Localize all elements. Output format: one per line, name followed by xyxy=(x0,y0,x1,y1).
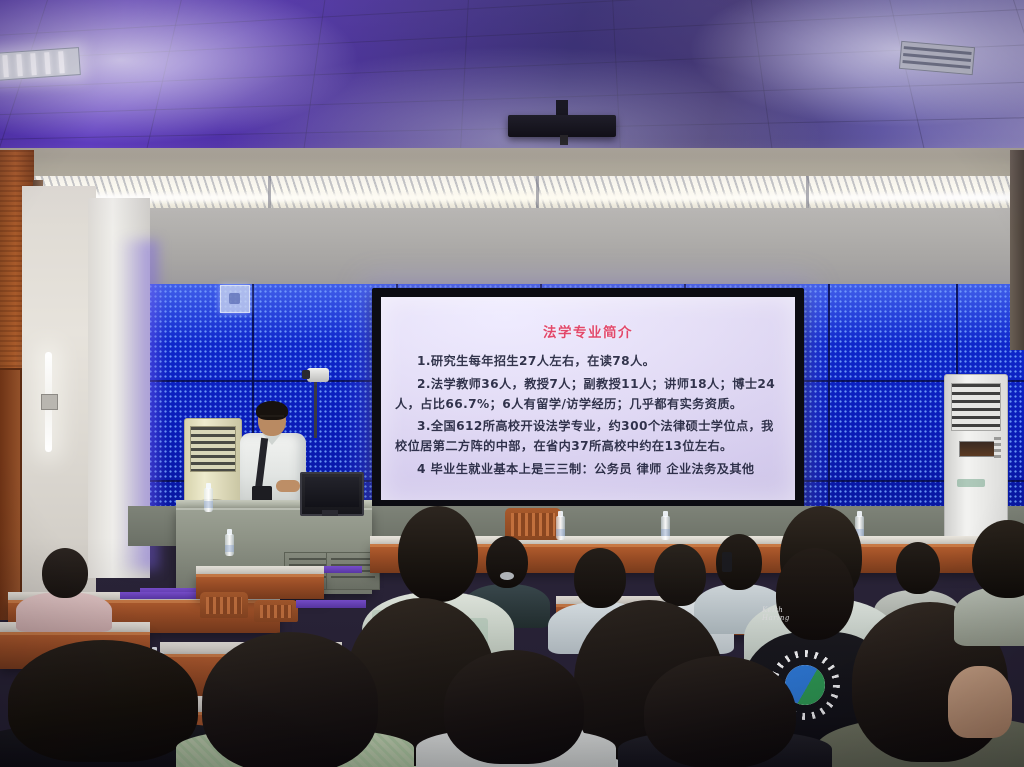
hand xyxy=(948,666,1012,738)
slide-line-1: 1.研究生每年招生27人左右，在读78人。 xyxy=(395,352,781,372)
chair-slats xyxy=(511,513,555,536)
wall-placard xyxy=(220,285,250,313)
slide-body: 1.研究生每年招生27人左右，在读78人。 2.法学教师36人，教授7人；副教授… xyxy=(395,352,781,483)
water-bottle xyxy=(661,516,670,540)
water-bottle xyxy=(204,488,213,512)
hair-clip xyxy=(722,552,732,572)
sconce-mount xyxy=(41,394,58,410)
slide-line-2: 2.法学教师36人，教授7人；副教授11人；讲师18人；博士24人，占比66.7… xyxy=(395,375,781,415)
ceiling-projector xyxy=(508,115,616,137)
audience-member xyxy=(430,684,598,767)
tshirt-signature: Keith Haring xyxy=(762,606,808,622)
monitor-stand xyxy=(322,510,338,516)
water-bottle xyxy=(556,516,565,540)
wall-camera-icon xyxy=(307,368,329,382)
wood-wall-panel-lower xyxy=(0,368,22,620)
right-wall-strip xyxy=(1010,150,1024,350)
doorway-recess xyxy=(22,186,96,606)
projection-screen: 法学专业简介 1.研究生每年招生27人左右，在读78人。 2.法学教师36人，教… xyxy=(372,288,804,510)
chair xyxy=(200,592,248,618)
chair-slats xyxy=(260,605,292,618)
audience-member xyxy=(20,548,106,628)
ac-buttons xyxy=(994,437,1001,459)
audience-member xyxy=(632,700,812,767)
chair-slats xyxy=(206,597,242,614)
audience-member xyxy=(192,672,392,767)
air-conditioner-right xyxy=(944,374,1008,542)
ac-louvers-icon xyxy=(951,383,1001,431)
slide-line-3: 3.全国612所高校开设法学专业，约300个法律硕士学位点，我校位居第二方阵的中… xyxy=(395,417,781,457)
camera-pole xyxy=(314,382,317,438)
slide-line-4: 4 毕业生就业基本上是三三制：公务员 律师 企业法务及其他 xyxy=(395,460,781,480)
audience-member xyxy=(960,520,1024,640)
light-highlight xyxy=(0,193,1024,202)
slide-surface: 法学专业简介 1.研究生每年招生27人左右，在读78人。 2.法学教师36人，教… xyxy=(381,297,795,500)
presenter-arm xyxy=(276,480,300,492)
cove-light-band xyxy=(0,176,1024,210)
lecture-hall-scene: 法学专业简介 1.研究生每年招生27人左右，在读78人。 2.法学教师36人，教… xyxy=(0,0,1024,767)
presenter-shirt xyxy=(240,433,306,509)
glasses-icon xyxy=(260,415,284,422)
water-bottle xyxy=(225,534,234,556)
slide-title: 法学专业简介 xyxy=(395,321,781,341)
hair-tie xyxy=(500,572,514,580)
projector-lens xyxy=(560,135,568,145)
chair xyxy=(254,600,298,622)
ceiling-soffit xyxy=(0,148,1024,178)
ac-brand-mark xyxy=(957,479,985,487)
ac-louvers-icon xyxy=(190,426,236,472)
